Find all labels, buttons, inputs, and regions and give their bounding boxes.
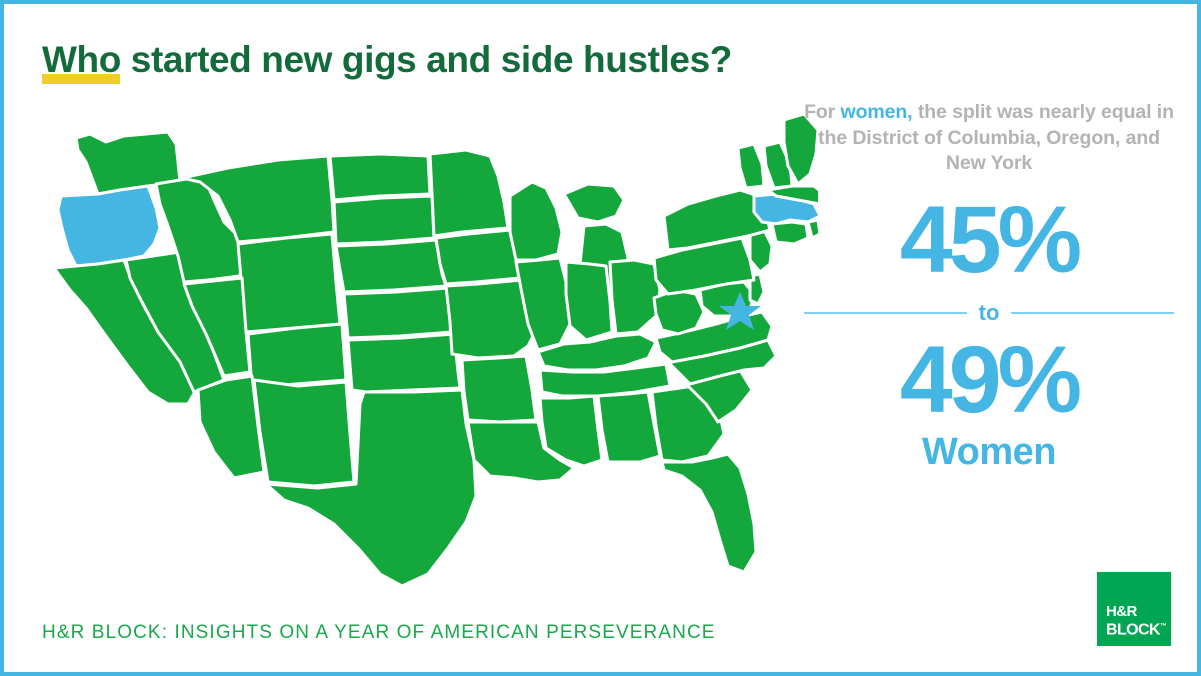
caption-highlight-women: women, [841,101,913,123]
state-nm [254,380,354,486]
state-ct [772,222,808,244]
title-underline-highlight [42,74,120,84]
state-ia [436,230,520,284]
state-vt [738,144,764,188]
infographic-canvas: Who started new gigs and side hustles? [0,0,1201,676]
page-title: Who started new gigs and side hustles? [42,38,862,82]
divider-label-to: to [979,302,1000,324]
state-wi [510,182,562,260]
footer-caption: H&R BLOCK: INSIGHTS ON A YEAR OF AMERICA… [42,622,716,644]
state-co [248,324,346,388]
state-fl [662,454,756,572]
stat-value-low: 45% [804,193,1174,288]
title-block: Who started new gigs and side hustles? [42,38,862,94]
logo-block-text: BLOCK [1106,621,1160,638]
logo-line-block: BLOCK™ [1106,619,1166,637]
state-nj [750,230,772,272]
state-ok [348,334,460,392]
logo-trademark: ™ [1160,623,1166,630]
state-ne [336,240,446,292]
state-nd [330,154,430,200]
stat-value-high: 49% [804,330,1174,430]
state-in [566,262,612,340]
panel-caption: For women, the split was nearly equal in… [804,100,1174,177]
state-wv [654,290,704,334]
state-mn [430,150,508,236]
divider-line-right [1011,312,1174,314]
logo-line-hr: H&R [1106,604,1137,619]
us-map-svg [28,104,818,594]
state-oh [610,260,660,334]
stat-panel: For women, the split was nearly equal in… [804,100,1174,472]
caption-prefix: For [804,101,840,123]
state-ks [344,288,452,338]
state-wy [238,234,340,332]
state-al [598,392,660,462]
state-sd [334,196,434,244]
state-or [58,186,160,266]
state-ar [462,356,536,422]
stat-divider: to [804,302,1174,324]
stat-value-label: Women [804,432,1174,472]
hr-block-logo: H&R BLOCK™ [1097,572,1171,646]
us-choropleth-map [28,104,818,594]
divider-line-left [804,312,967,314]
